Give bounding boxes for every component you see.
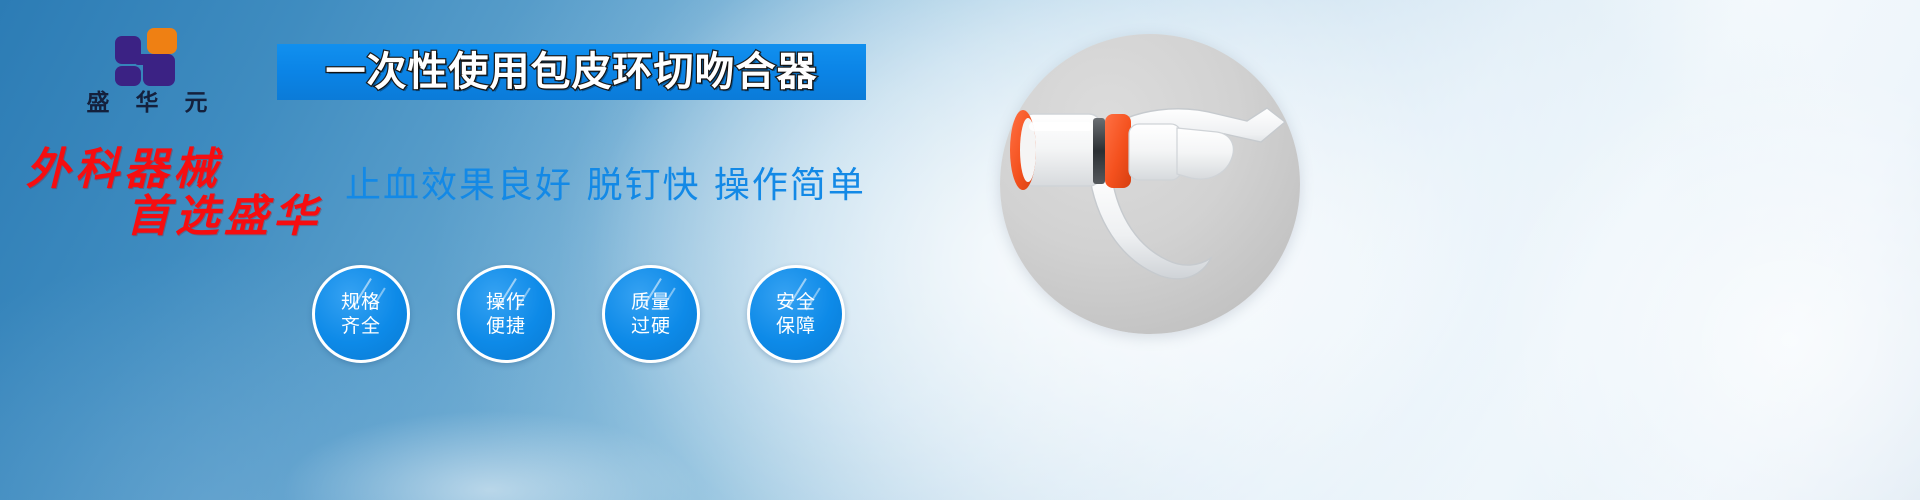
slogan-line-1: 外科器械 xyxy=(22,148,352,193)
brand-logo[interactable]: 盛 华 元 xyxy=(62,28,232,115)
staple-housing-band xyxy=(1093,118,1105,184)
product-title: 一次性使用包皮环切吻合器 xyxy=(326,52,818,92)
badge-line-2: 过硬 xyxy=(631,314,671,338)
bottom-light-wash xyxy=(280,410,700,500)
feature-badge-list: 规格 齐全 操作 便捷 质量 过硬 安全 保障 xyxy=(312,265,845,363)
orange-collar xyxy=(1105,114,1131,188)
stapler-lower-arm xyxy=(1089,170,1211,279)
badge-line-1: 规格 xyxy=(341,290,381,314)
logo-block-bottom-right xyxy=(143,54,175,86)
stapler-mid-body xyxy=(1129,124,1181,180)
promo-banner: 盛 华 元 外科器械 首选盛华 一次性使用包皮环切吻合器 止血效果良好 脱钉快 … xyxy=(0,0,1920,500)
product-subtitle: 止血效果良好 脱钉快 操作简单 xyxy=(345,166,866,206)
badge-line-1: 安全 xyxy=(776,290,816,314)
feature-badge[interactable]: 安全 保障 xyxy=(747,265,845,363)
logo-mark-icon xyxy=(115,28,179,86)
feature-badge[interactable]: 规格 齐全 xyxy=(312,265,410,363)
stapler-anvil-tip xyxy=(1177,128,1233,179)
badge-line-1: 操作 xyxy=(486,290,526,314)
badge-line-2: 齐全 xyxy=(341,314,381,338)
circumcision-stapler-illustration xyxy=(985,22,1545,382)
product-image xyxy=(985,22,1545,500)
barrel-highlight xyxy=(1029,122,1093,131)
product-title-band: 一次性使用包皮环切吻合器 xyxy=(277,44,866,100)
company-name: 盛 华 元 xyxy=(62,92,232,115)
logo-block-top-right xyxy=(147,28,177,54)
badge-line-2: 便捷 xyxy=(486,314,526,338)
badge-line-2: 保障 xyxy=(776,314,816,338)
badge-line-1: 质量 xyxy=(631,290,671,314)
background-glow-right xyxy=(1480,60,1920,500)
logo-block-bottom-left xyxy=(115,66,141,86)
feature-badge[interactable]: 质量 过硬 xyxy=(602,265,700,363)
slogan-line-2: 首选盛华 xyxy=(22,195,352,240)
brand-slogan: 外科器械 首选盛华 xyxy=(22,148,352,240)
feature-badge[interactable]: 操作 便捷 xyxy=(457,265,555,363)
